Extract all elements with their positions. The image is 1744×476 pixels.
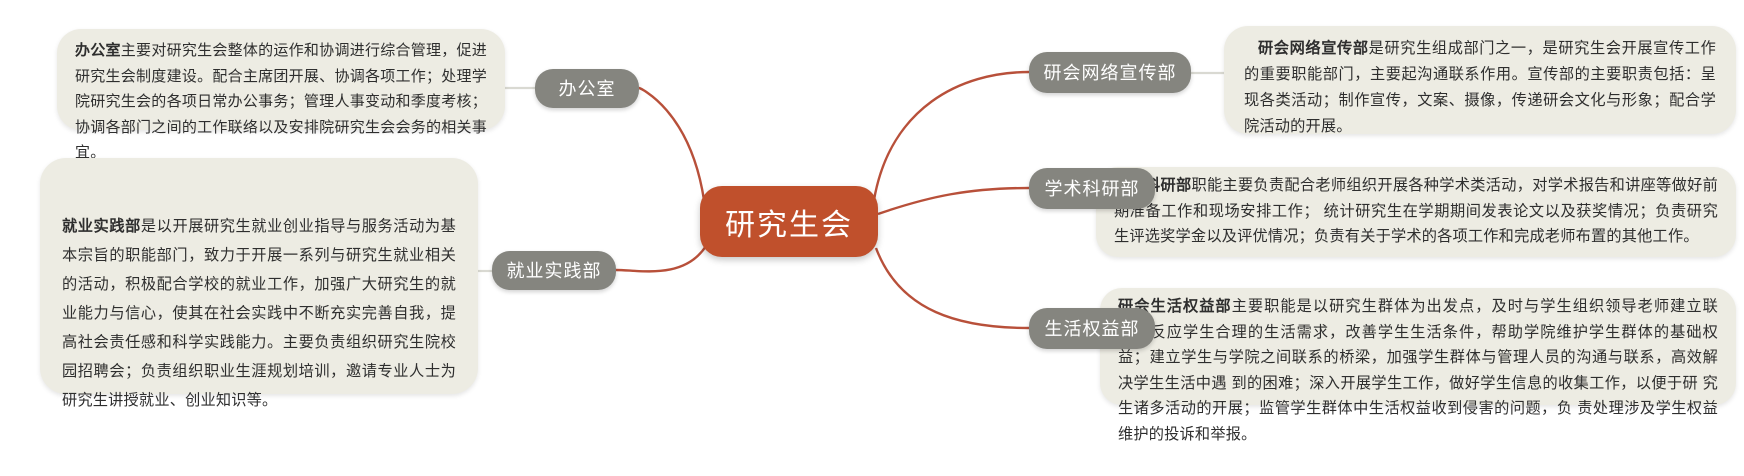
description-text-employment: 就业实践部是以开展研究生就业创业指导与服务活动为基本宗旨的职能部门，致力于开展一… (62, 212, 456, 415)
description-text-publicity: 研会网络宣传部是研究生组成部门之一，是研究生会开展宣传工作的重要职能部门，主要起… (1244, 36, 1716, 140)
mindmap-canvas: 办公室主要对研究生会整体的运作和协调进行综合管理，促进研究生会制度建设。配合主席… (0, 0, 1744, 476)
link-root-academic (878, 188, 1029, 214)
description-card-academic: 学术科研部职能主要负责配合老师组织开展各种学术类活动，对学术报告和讲座等做好前期… (1096, 167, 1736, 257)
link-root-office (639, 88, 704, 200)
description-text-welfare: 研会生活权益部主要职能是以研究生群体为出发点，及时与学生组织领导老师建立联系，反… (1118, 294, 1718, 447)
description-card-employment: 就业实践部是以开展研究生就业创业指导与服务活动为基本宗旨的职能部门，致力于开展一… (40, 158, 478, 394)
link-root-welfare (876, 248, 1029, 328)
link-root-employment (616, 246, 706, 271)
branch-node-academic[interactable]: 学术科研部 (1029, 168, 1155, 209)
description-text-office: 办公室主要对研究生会整体的运作和协调进行综合管理，促进研究生会制度建设。配合主席… (75, 38, 487, 166)
link-root-publicity (874, 72, 1029, 200)
branch-node-welfare[interactable]: 生活权益部 (1029, 308, 1155, 349)
description-text-academic: 学术科研部职能主要负责配合老师组织开展各种学术类活动，对学术报告和讲座等做好前期… (1114, 173, 1718, 250)
description-card-welfare: 研会生活权益部主要职能是以研究生群体为出发点，及时与学生组织领导老师建立联系，反… (1100, 288, 1736, 405)
description-card-office: 办公室主要对研究生会整体的运作和协调进行综合管理，促进研究生会制度建设。配合主席… (57, 29, 505, 130)
branch-node-publicity[interactable]: 研会网络宣传部 (1029, 52, 1191, 93)
branch-node-office[interactable]: 办公室 (535, 69, 639, 108)
description-card-publicity: 研会网络宣传部是研究生组成部门之一，是研究生会开展宣传工作的重要职能部门，主要起… (1224, 26, 1736, 134)
root-node[interactable]: 研究生会 (700, 186, 878, 257)
branch-node-employment[interactable]: 就业实践部 (492, 251, 616, 290)
